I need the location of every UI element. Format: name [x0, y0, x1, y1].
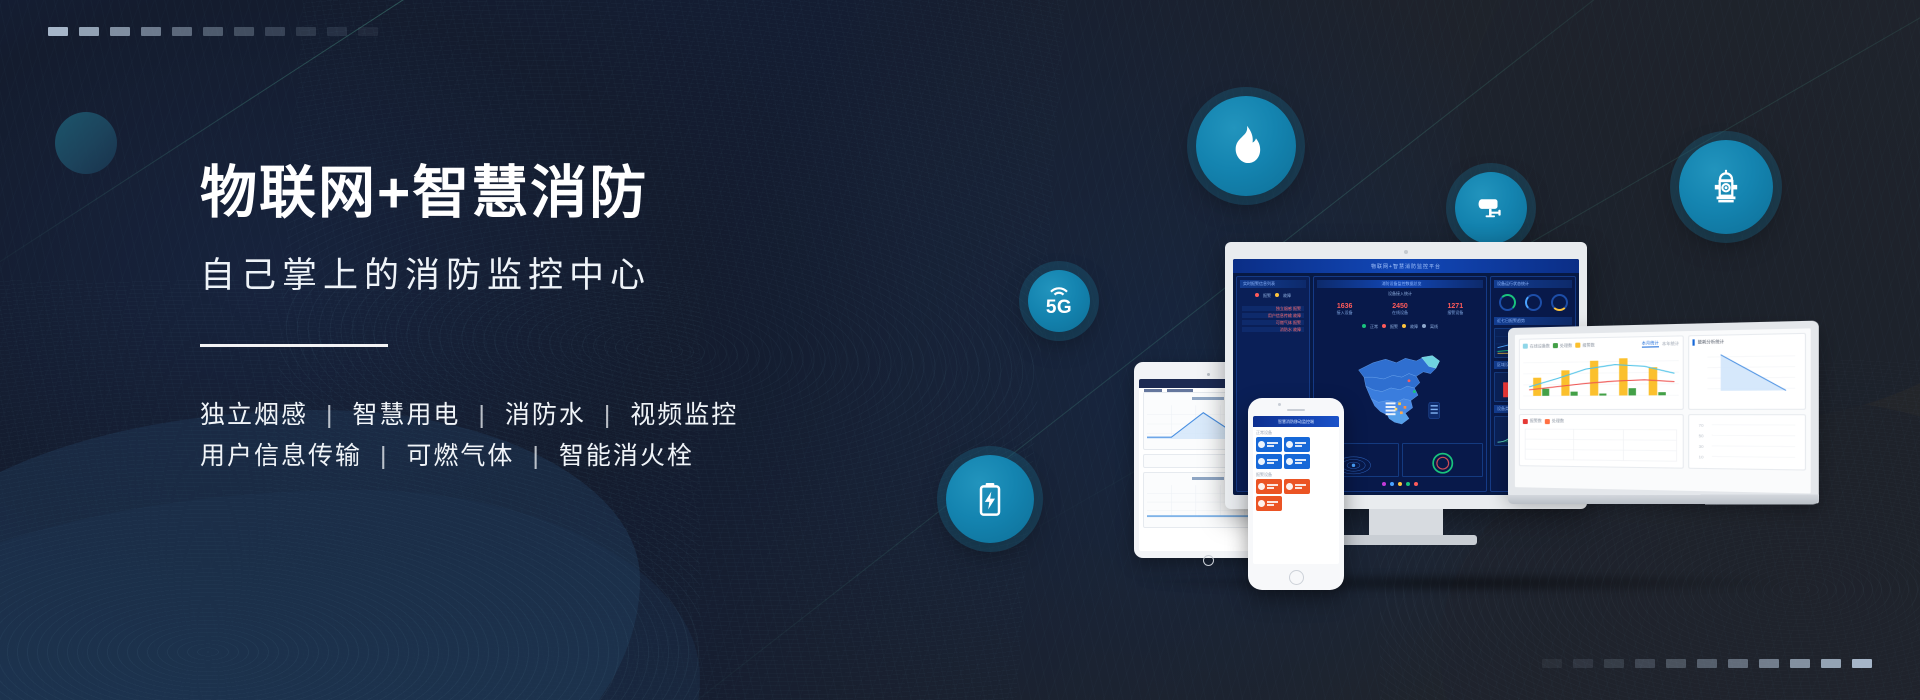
gauge [1525, 294, 1542, 311]
list-item[interactable] [1256, 437, 1282, 452]
feature-separator: | [371, 442, 398, 470]
phone-camera-icon [1278, 403, 1281, 406]
divider [200, 344, 388, 347]
page-title: 物联网+智慧消防 [200, 160, 960, 227]
alert-icon [1258, 483, 1265, 490]
phone-screen: 智慧消防移动监控端 正常设备 报警设备 [1253, 416, 1339, 564]
monitor-base [1335, 535, 1477, 545]
list-item[interactable] [1256, 496, 1282, 511]
chart-header: 报警数 处理数 [1523, 418, 1679, 425]
laptop-table-card: 报警数 处理数 [1519, 414, 1684, 469]
background-blob-lower [0, 490, 700, 700]
decorative-circle [55, 112, 117, 174]
list-item[interactable] [1284, 479, 1310, 494]
feature-item: 独立烟感 [200, 401, 308, 429]
panel-title: 消防设备监控数据总览 [1382, 281, 1422, 287]
alarm-row-list: 独立烟感 报警 用户信息传输 故障 可燃气体 报警 消防水 故障 [1240, 304, 1306, 334]
laptop-screen: 在线设备数 处理数 报警数 本月统计 本年统计 [1515, 328, 1811, 493]
laptop-lid: 在线设备数 处理数 报警数 本月统计 本年统计 [1508, 321, 1819, 504]
status-icon [1286, 458, 1293, 465]
kpi-item: 1271 报警设备 [1447, 303, 1463, 316]
alarm-legend: 报警 故障 [1240, 291, 1306, 301]
phone-tile-grid-normal [1253, 437, 1339, 469]
panel-title: 近七日报警趋势 [1497, 318, 1525, 324]
wifi-icon [1047, 286, 1071, 296]
phone-section-normal: 正常设备 [1253, 427, 1339, 437]
feature-item: 可燃气体 [406, 442, 514, 470]
tablet-chart-title-2 [1192, 477, 1224, 480]
feature-item: 视频监控 [630, 401, 738, 429]
kpi-label: 在线设备 [1392, 310, 1408, 316]
kpi-label: 报警设备 [1447, 310, 1463, 316]
feature-separator: | [595, 401, 622, 429]
tablet-home-button[interactable] [1203, 555, 1214, 566]
list-item[interactable] [1256, 454, 1282, 469]
flame-icon [1196, 96, 1296, 196]
gauge-chart-card [1402, 443, 1484, 477]
map-legend: 正常 报警 故障 离线 [1317, 322, 1483, 332]
status-icon [1258, 458, 1265, 465]
panel-title: 设备运行状态统计 [1497, 281, 1529, 287]
hero-banner: 物联网+智慧消防 自己掌上的消防监控中心 独立烟感 | 智慧用电 | 消防水 |… [0, 0, 1920, 700]
panel-title: 实时报警信息列表 [1243, 281, 1275, 287]
feature-line-1: 独立烟感 | 智慧用电 | 消防水 | 视频监控 [200, 395, 960, 436]
status-icon [1286, 441, 1293, 448]
laptop-mockup: 在线设备数 处理数 报警数 本月统计 本年统计 [1508, 328, 1798, 504]
tab-month[interactable]: 本月统计 [1642, 340, 1659, 348]
feature-item: 智慧用电 [352, 401, 460, 429]
alert-icon [1286, 483, 1293, 490]
chart-title: 能耗分析统计 [1698, 339, 1724, 346]
page-subtitle: 自己掌上的消防监控中心 [200, 247, 960, 298]
kpi-value: 2450 [1392, 303, 1408, 310]
panel-header: 实时报警信息列表 [1240, 280, 1306, 288]
axis-chart: 7050 3010 [1692, 418, 1801, 462]
feature-item: 消防水 [505, 401, 586, 429]
kpi-value: 1271 [1447, 303, 1463, 310]
feature-line-2: 用户信息传输 | 可燃气体 | 智能消火栓 [200, 436, 960, 477]
phone-section-alarm: 报警设备 [1253, 469, 1339, 479]
legend-label: 故障 [1283, 293, 1291, 299]
chart-header: 在线设备数 处理数 报警数 本月统计 本年统计 [1523, 340, 1679, 350]
feature-list: 独立烟感 | 智慧用电 | 消防水 | 视频监控 用户信息传输 | 可燃气体 |… [200, 395, 960, 476]
alarm-text: 独立烟感 报警 [1276, 306, 1301, 312]
list-item[interactable] [1284, 437, 1310, 452]
list-item[interactable] [1284, 454, 1310, 469]
kpi-item: 2450 在线设备 [1392, 303, 1408, 316]
tab-year[interactable]: 本年统计 [1662, 340, 1679, 347]
dash-decoration-top-left [48, 27, 378, 36]
table-row[interactable]: 可燃气体 报警 [1242, 320, 1304, 325]
legend-label: 处理数 [1552, 418, 1564, 424]
panel-header: 近七日报警趋势 [1494, 317, 1572, 325]
hydrant-icon [1679, 140, 1773, 234]
feature-separator: | [523, 442, 550, 470]
laptop-bar-chart-card: 在线设备数 处理数 报警数 本月统计 本年统计 [1519, 335, 1684, 410]
phone-speaker [1287, 409, 1305, 411]
list-item[interactable] [1256, 479, 1282, 494]
svg-text:70: 70 [1698, 423, 1704, 428]
hero-text-block: 物联网+智慧消防 自己掌上的消防监控中心 独立烟感 | 智慧用电 | 消防水 |… [200, 160, 960, 476]
alarm-text: 用户信息传输 故障 [1268, 313, 1301, 319]
legend-label: 报警 [1263, 293, 1271, 299]
feature-item: 用户信息传输 [200, 442, 362, 470]
legend-label: 在线设备数 [1530, 343, 1550, 349]
legend-label: 故障 [1410, 324, 1418, 330]
dashboard-title-bar: 物联网+智慧消防监控平台 [1233, 259, 1579, 273]
monitor-camera-icon [1404, 250, 1408, 254]
legend-label: 报警数 [1530, 418, 1542, 424]
grouped-bar-chart [1523, 350, 1679, 401]
table-row[interactable]: 用户信息传输 故障 [1242, 313, 1304, 318]
laptop-axis-card: 7050 3010 [1688, 414, 1806, 470]
table-row[interactable]: 独立烟感 报警 [1242, 306, 1304, 311]
status-icon [1258, 441, 1265, 448]
svg-text:30: 30 [1698, 444, 1704, 449]
battery-icon [946, 455, 1034, 543]
alarm-text: 可燃气体 报警 [1276, 320, 1301, 326]
phone-mockup: 智慧消防移动监控端 正常设备 报警设备 [1248, 398, 1344, 590]
kpi-row: 1636 接入设备 2450 在线设备 1271 报警设备 [1317, 300, 1483, 319]
dash-decoration-bottom-right [1542, 659, 1872, 668]
chart-header: 能耗分析统计 [1692, 337, 1801, 345]
feature-separator: | [317, 401, 344, 429]
kpi-value: 1636 [1337, 303, 1353, 310]
phone-app-title: 智慧消防移动监控端 [1278, 419, 1314, 425]
declining-area-chart [1692, 347, 1801, 399]
laptop-base [1508, 495, 1819, 505]
feature-item: 智能消火栓 [559, 442, 694, 470]
kpi-label: 接入设备 [1337, 310, 1353, 316]
phone-tile-grid-alarm [1253, 479, 1339, 511]
svg-text:10: 10 [1698, 454, 1704, 459]
monitor-stand [1369, 509, 1443, 535]
phone-app-titlebar: 智慧消防移动监控端 [1253, 416, 1339, 427]
tablet-chart-title-1 [1192, 397, 1224, 400]
panel-header: 设备运行状态统计 [1494, 280, 1572, 288]
kpi-section-title: 设备接入统计 [1317, 291, 1483, 297]
laptop-area-chart-card: 能耗分析统计 [1688, 333, 1806, 410]
legend-label: 报警数 [1582, 342, 1594, 348]
tablet-camera-icon [1207, 373, 1210, 376]
gauge [1499, 294, 1516, 311]
panel-header: 消防设备监控数据总览 [1317, 280, 1483, 288]
ring-gauge-chart [1403, 444, 1483, 476]
svg-text:50: 50 [1698, 433, 1704, 438]
legend-label: 处理数 [1560, 342, 1572, 348]
kpi-item: 1636 接入设备 [1337, 303, 1353, 316]
dashboard-title: 物联网+智慧消防监控平台 [1371, 263, 1441, 270]
table-grid [1523, 427, 1679, 463]
device-mockups: 物联网+智慧消防监控平台 实时报警信息列表 报警 故障 [1120, 280, 1800, 580]
gauge-row [1494, 291, 1572, 314]
alarm-text: 消防水 故障 [1280, 327, 1301, 333]
5g-icon: 5G [1028, 270, 1090, 332]
legend-label: 正常 [1370, 324, 1378, 330]
legend-label: 报警 [1390, 324, 1398, 330]
alert-icon [1258, 500, 1265, 507]
table-row[interactable]: 消防水 故障 [1242, 327, 1304, 332]
feature-separator: | [469, 401, 496, 429]
phone-home-button[interactable] [1289, 570, 1304, 585]
gauge [1551, 294, 1568, 311]
5g-label: 5G [1046, 298, 1072, 317]
legend-label: 离线 [1430, 324, 1438, 330]
camera-icon [1455, 172, 1527, 244]
